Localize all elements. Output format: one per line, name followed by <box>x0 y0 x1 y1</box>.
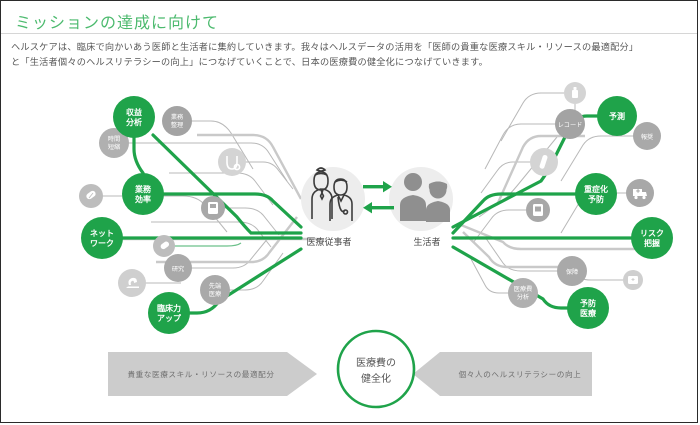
node-label: 収益 <box>126 107 142 117</box>
node-label: 予測 <box>609 111 625 121</box>
node-label: 研究 <box>172 265 184 273</box>
clipboard-icon <box>533 204 543 216</box>
node-label: 重症化 <box>584 184 608 194</box>
capsule-icon-node-2[interactable] <box>153 235 175 257</box>
person-label-medical-worker: 医療従事者 <box>306 236 351 247</box>
bottom-arrow-left: 貴重な医療スキル・リソースの最適配分 <box>108 352 317 396</box>
right-green-node-yobouiryou[interactable]: 予防 医療 <box>567 287 609 329</box>
right-green-node-yosoku[interactable]: 予測 <box>597 96 637 136</box>
pen-icon-node[interactable] <box>530 148 558 176</box>
node-label: 業務 <box>171 113 184 121</box>
left-gray-node-kenkyu[interactable]: 研究 <box>164 254 192 282</box>
slide-page: ミッションの達成に向けて ヘルスケアは、臨床で向かいあう医師と生活者に集約してい… <box>0 0 698 423</box>
microscope-icon-node[interactable] <box>118 269 146 297</box>
node-label: アップ <box>157 313 182 323</box>
medicine-bottle-icon-node[interactable] <box>564 82 586 104</box>
person-label-consumer: 生活者 <box>413 236 440 247</box>
bottom-arrow-left-label: 貴重な医療スキル・リソースの最適配分 <box>127 369 274 379</box>
left-green-thin-connectors <box>164 243 241 246</box>
node-label: 業務 <box>134 184 152 194</box>
node-label: 医療費 <box>514 285 533 293</box>
node-label: 分析 <box>517 293 529 301</box>
goal-label-line-2: 健全化 <box>361 372 391 385</box>
clipboard-icon-node[interactable] <box>526 198 550 222</box>
node-label: 分析 <box>126 117 142 127</box>
lead-line-1: ヘルスケアは、臨床で向かいあう医師と生活者に集約していきます。我々はヘルスデータ… <box>11 40 691 55</box>
right-gray-node-iryohibunseki[interactable]: 医療費 分析 <box>508 278 538 308</box>
right-gray-node-hoshou[interactable]: 保障 <box>557 256 587 286</box>
page-title: ミッションの達成に向けて <box>15 9 219 33</box>
header-divider <box>1 33 697 34</box>
left-gray-node-gyomuseiri[interactable]: 業務 整理 <box>162 106 192 136</box>
ambulance-icon-node[interactable] <box>626 179 654 207</box>
lead-paragraph: ヘルスケアは、臨床で向かいあう医師と生活者に集約していきます。我々はヘルスデータ… <box>11 40 691 70</box>
node-label: ネット <box>90 228 114 238</box>
diagram-canvas: 業務 整理 時間 短縮 研究 先端 医療 <box>1 77 698 423</box>
monitor-icon-node[interactable] <box>201 196 225 220</box>
left-gray-node-sentaniryo[interactable]: 先端 医療 <box>200 275 230 305</box>
monitor-icon <box>208 202 218 214</box>
capsule-icon-node-1[interactable] <box>79 184 103 208</box>
right-green-connectors <box>453 116 652 308</box>
node-label: 時間 <box>108 136 120 143</box>
node-label: 医療 <box>580 308 597 318</box>
firstaid-icon-node[interactable] <box>623 270 643 290</box>
node-label: リスク <box>640 228 664 238</box>
node-label: 整理 <box>171 121 183 129</box>
node-label: 報奨 <box>641 133 653 141</box>
center-arrow-right <box>363 181 392 192</box>
node-label: レコード <box>558 122 583 129</box>
lead-line-2: と「生活者個々のヘルスリテラシーの向上」につなげていくことで、日本の医療費の健全… <box>11 55 691 70</box>
firstaid-icon <box>628 276 638 284</box>
node-label: 保障 <box>566 268 578 276</box>
person-group-consumer[interactable]: 生活者 <box>389 167 453 247</box>
right-gray-node-housho[interactable]: 報奨 <box>633 122 661 150</box>
node-label: 予防 <box>588 194 604 204</box>
node-label: 把握 <box>644 238 660 248</box>
node-label: 臨床力 <box>157 303 181 313</box>
goal-label-line-1: 医療費の <box>356 356 396 369</box>
person-group-medical-worker[interactable]: 医療従事者 <box>301 167 365 247</box>
right-gray-node-record[interactable]: レコード <box>555 109 585 139</box>
bottom-arrow-right-label: 個々人のヘルスリテラシーの向上 <box>459 369 582 379</box>
right-green-node-riskhaaku[interactable]: リスク 把握 <box>631 217 673 259</box>
node-label: 予防 <box>580 298 596 308</box>
node-label: 短縮 <box>108 143 120 151</box>
left-green-node-shuuekibunseki[interactable]: 収益 分析 <box>113 96 155 138</box>
node-label: 先端 <box>209 282 221 290</box>
right-green-node-juushoukayobou[interactable]: 重症化 予防 <box>575 173 617 215</box>
left-green-node-gyomukouritsu[interactable]: 業務 効率 <box>122 173 164 215</box>
bottom-arrow-right: 個々人のヘルスリテラシーの向上 <box>413 352 592 396</box>
left-green-node-network[interactable]: ネット ワーク <box>81 217 123 259</box>
left-green-node-rinshouryoku[interactable]: 臨床力 アップ <box>148 292 190 334</box>
stethoscope-icon-node[interactable] <box>218 148 246 176</box>
goal-circle[interactable]: 医療費の 健全化 <box>338 331 414 407</box>
node-label: 医療 <box>209 290 221 298</box>
node-label: ワーク <box>90 238 114 248</box>
node-label: 効率 <box>135 194 151 204</box>
